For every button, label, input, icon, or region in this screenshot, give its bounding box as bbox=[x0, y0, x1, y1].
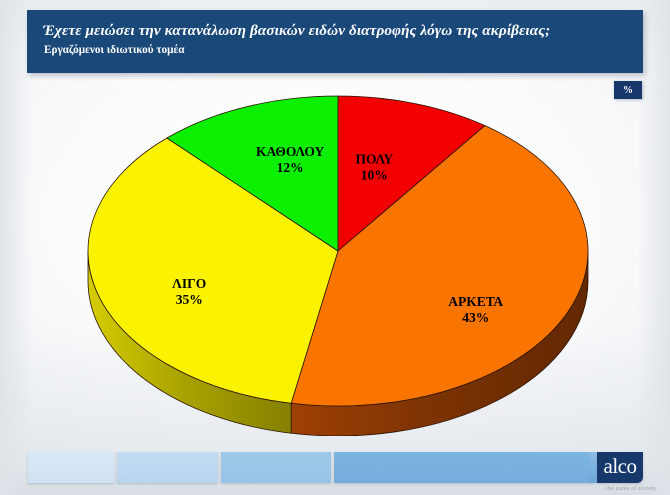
logo-accent-bar bbox=[589, 452, 597, 483]
footer-segment-3 bbox=[221, 452, 331, 483]
footer-segment-2 bbox=[117, 452, 218, 483]
alco-logo: alco bbox=[597, 452, 643, 483]
alco-logo-wordmark: alco bbox=[604, 456, 637, 477]
alco-logo-tagline: the pulse of society bbox=[595, 486, 667, 492]
page-title: Έχετε μειώσει την κατανάλωση βασικών ειδ… bbox=[43, 21, 633, 40]
pie-label-λιγο: ΛΙΓΟ35% bbox=[172, 276, 206, 307]
pie-chart: ΠΟΛΥ10%ΑΡΚΕΤΑ43%ΛΙΓΟ35%ΚΑΘΟΛΟΥ12% bbox=[0, 86, 670, 436]
slide-canvas: Έχετε μειώσει την κατανάλωση βασικών ειδ… bbox=[0, 0, 670, 495]
pie-chart-svg: ΠΟΛΥ10%ΑΡΚΕΤΑ43%ΛΙΓΟ35%ΚΑΘΟΛΟΥ12% bbox=[0, 86, 670, 436]
footer-segment-4 bbox=[334, 452, 595, 483]
percent-unit-badge: % bbox=[614, 81, 642, 99]
pie-label-πολυ: ΠΟΛΥ10% bbox=[355, 152, 393, 183]
header-banner: Έχετε μειώσει την κατανάλωση βασικών ειδ… bbox=[27, 10, 643, 73]
pie-top-faces bbox=[88, 96, 588, 406]
footer-segment-1 bbox=[28, 452, 114, 483]
footer-bar: alco the pulse of society bbox=[0, 433, 670, 495]
page-subtitle: Εργαζόμενοι ιδιωτικού τομέα bbox=[44, 43, 633, 57]
